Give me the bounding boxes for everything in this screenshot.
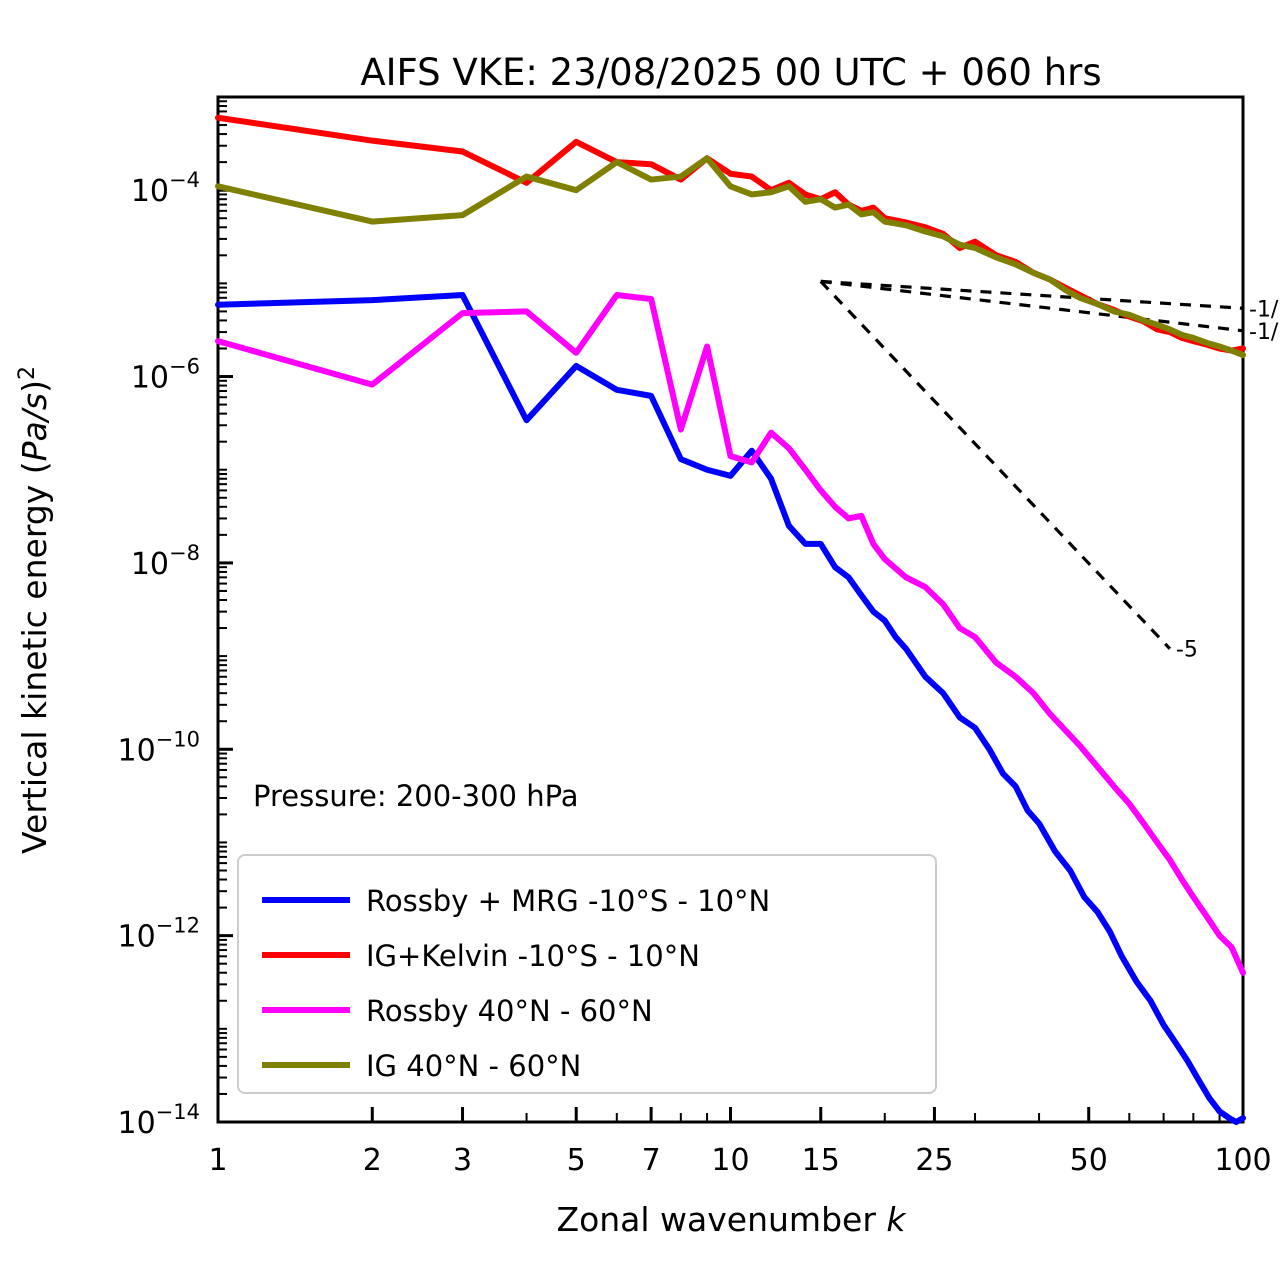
x-tick-label: 1 [208, 1143, 227, 1178]
legend-label: Rossby + MRG -10°S - 10°N [366, 884, 770, 918]
x-tick-label: 100 [1214, 1143, 1271, 1178]
legend-label: IG 40°N - 60°N [366, 1049, 581, 1083]
x-axis-ticks [218, 1107, 1243, 1122]
x-tick-label: 7 [642, 1143, 661, 1178]
reference-line-label: -1/3 [1249, 320, 1280, 345]
y-tick-mantissa: 10 [131, 174, 169, 209]
y-tick-mantissa: 10 [131, 547, 169, 582]
y-tick-mantissa: 10 [117, 920, 155, 955]
x-tick-label: 10 [711, 1143, 749, 1178]
legend-label: Rossby 40°N - 60°N [366, 994, 653, 1028]
x-tick-label: 50 [1070, 1143, 1108, 1178]
x-axis-label-text: Zonal wavenumber [556, 1200, 886, 1239]
figure-background [0, 0, 1280, 1288]
y-tick-exponent: −8 [169, 541, 200, 565]
chart-title: AIFS VKE: 23/08/2025 00 UTC + 060 hrs [360, 51, 1101, 94]
pressure-annotation: Pressure: 200-300 hPa [253, 779, 579, 813]
y-tick-exponent: −14 [156, 1100, 200, 1124]
svg-text:Zonal wavenumber k: Zonal wavenumber k [556, 1200, 907, 1239]
y-tick-mantissa: 10 [131, 361, 169, 396]
y-tick-exponent: −10 [156, 727, 200, 751]
x-axis-label-symbol: k [886, 1200, 907, 1239]
reference-line-label: -1/3 [1249, 297, 1280, 322]
x-tick-label: 5 [567, 1143, 586, 1178]
y-tick-exponent: −12 [156, 914, 200, 938]
y-tick-exponent: −6 [169, 355, 200, 379]
chart-legend[interactable]: Rossby + MRG -10°S - 10°NIG+Kelvin -10°S… [238, 855, 936, 1093]
y-tick-mantissa: 10 [117, 1106, 155, 1141]
y-tick-mantissa: 10 [117, 733, 155, 768]
x-tick-label: 2 [363, 1143, 382, 1178]
reference-line-label: -5 [1176, 638, 1198, 663]
legend-label: IG+Kelvin -10°S - 10°N [366, 939, 700, 973]
svg-text:Vertical kinetic energy (Pa/s): Vertical kinetic energy (Pa/s)2 [15, 366, 54, 854]
x-tick-label: 15 [802, 1143, 840, 1178]
x-axis-label: Zonal wavenumber k [556, 1200, 907, 1239]
y-tick-exponent: −4 [169, 168, 200, 192]
chart-figure: AIFS VKE: 23/08/2025 00 UTC + 060 hrs Ve… [0, 0, 1280, 1288]
x-tick-label: 25 [915, 1143, 953, 1178]
x-tick-label: 3 [453, 1143, 472, 1178]
y-axis-label-units: Pa/s [15, 393, 54, 461]
y-axis-label: Vertical kinetic energy (Pa/s)2 [15, 366, 54, 854]
y-axis-label-text: Vertical kinetic energy [15, 474, 54, 854]
